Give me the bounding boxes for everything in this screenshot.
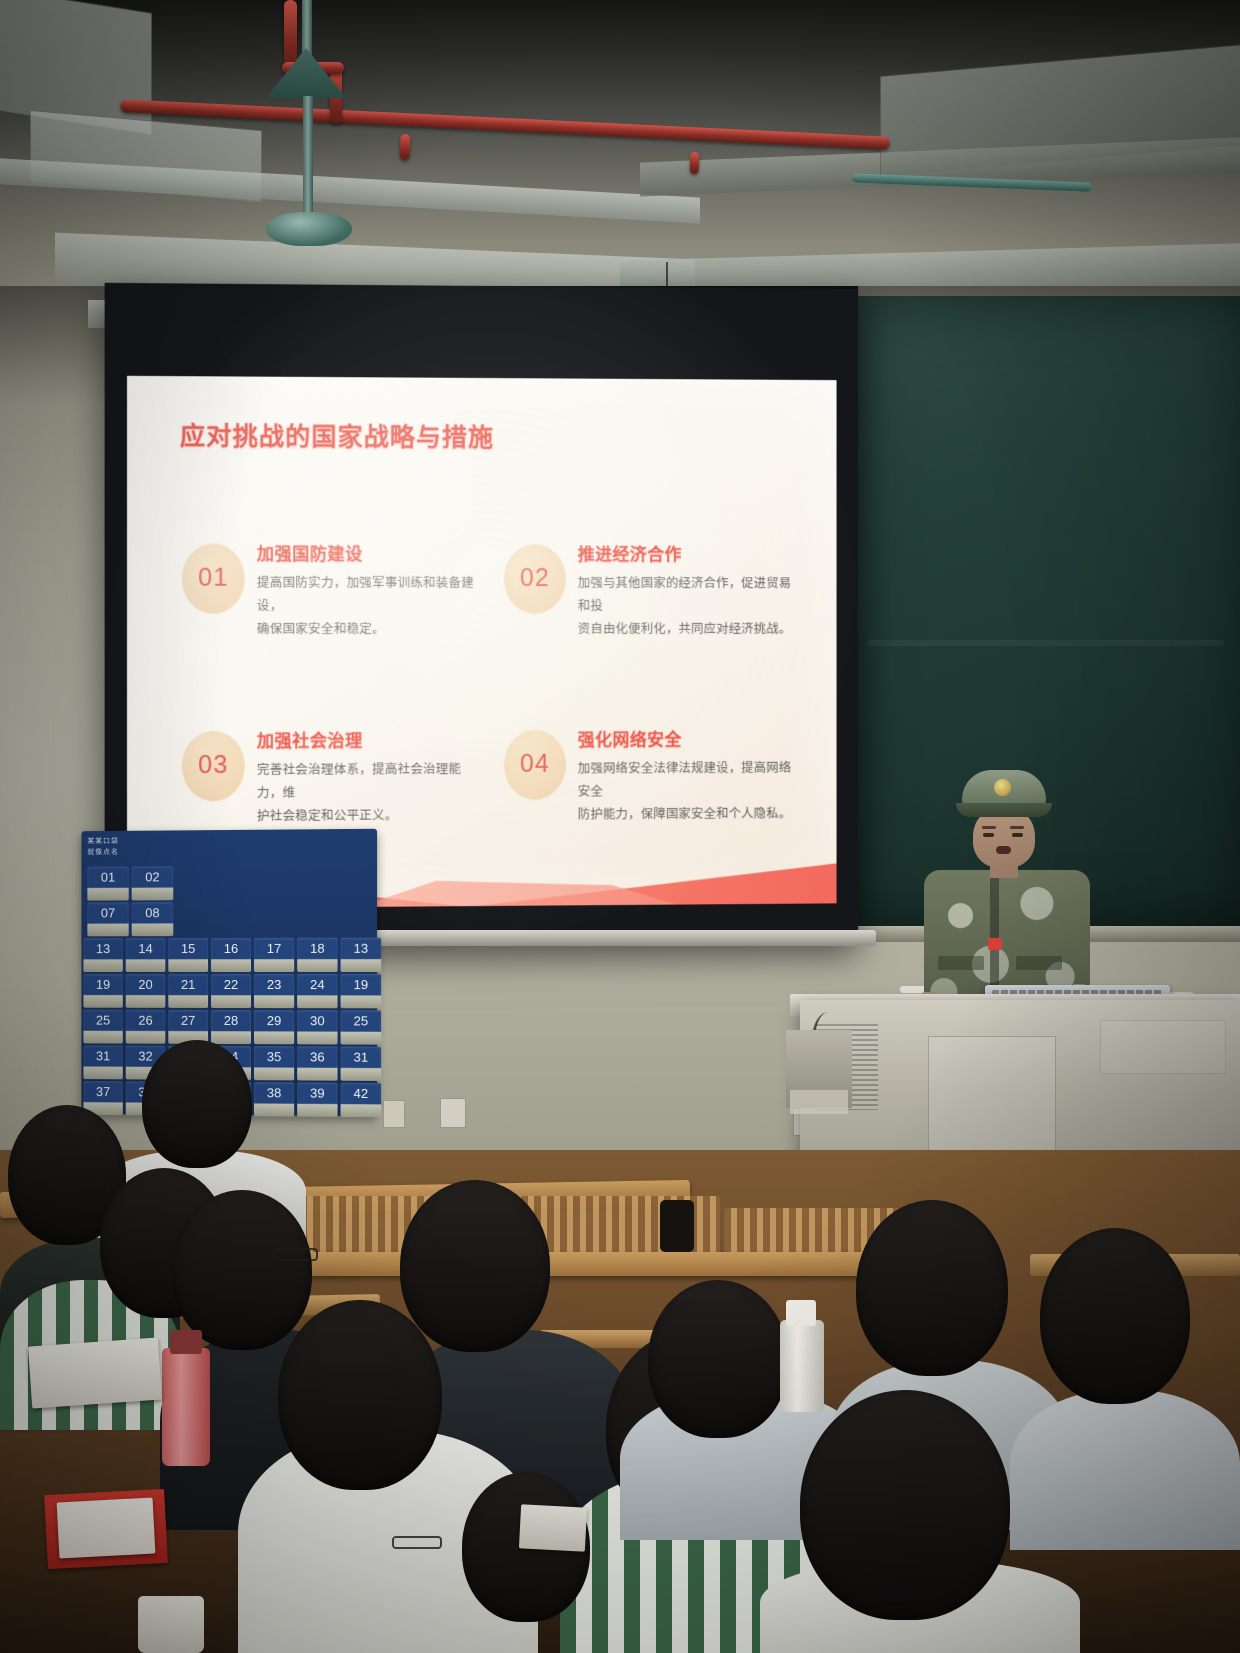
item-heading: 强化网络安全 [578, 725, 682, 750]
pocket-chart-header-line: 就像点名 [87, 846, 196, 858]
pocket-row: 25 26 27 28 29 30 25 [83, 1010, 381, 1045]
notebook[interactable] [519, 1504, 587, 1551]
pocket-slot[interactable]: 24 [297, 974, 337, 1008]
slide-items-row: 01 加强国防建设 提高国防实力，加强军事训练和装备建设， 确保国家安全和稳定。… [168, 525, 807, 713]
item-body-line: 防护能力，保障国家安全和个人隐私。 [578, 802, 800, 826]
pocket-slot[interactable]: 16 [211, 938, 251, 972]
pocket-slot[interactable]: 07 [87, 902, 128, 936]
pocket-slot[interactable]: 30 [297, 1010, 337, 1044]
pocket-slot[interactable]: 31 [341, 1046, 382, 1080]
cup[interactable] [138, 1596, 204, 1653]
pocket-slot[interactable]: 26 [126, 1010, 166, 1044]
pocket-slot[interactable]: 01 [87, 867, 128, 901]
podium-front-panel [928, 1036, 1056, 1164]
eyebrow [982, 826, 996, 829]
red-pipe-riser [284, 0, 297, 70]
pocket-slot[interactable]: 22 [211, 974, 251, 1008]
pocket-slot[interactable]: 42 [341, 1083, 382, 1118]
student-head [400, 1180, 550, 1352]
podium-shelf [790, 1090, 848, 1114]
student-head [800, 1390, 1010, 1620]
pocket-slot[interactable]: 27 [168, 1010, 208, 1044]
red-pipe-drop [690, 152, 700, 174]
item-number: 01 [182, 564, 245, 593]
eyebrow [1010, 826, 1024, 829]
pocket-chart-header: 某某口袋 就像点名 [87, 835, 196, 862]
item-body-line: 确保国家安全和稳定。 [257, 618, 483, 641]
pocket-row: 13 14 15 16 17 18 13 [83, 938, 381, 972]
wall-outlet [383, 1100, 405, 1128]
podium-panel [1100, 1020, 1226, 1074]
chalkboard-smudge [868, 640, 1224, 646]
ceiling-fan-motor [266, 212, 352, 246]
pocket-slot[interactable]: 13 [341, 938, 382, 972]
pocket-slot[interactable]: 38 [254, 1082, 294, 1116]
item-body: 加强网络安全法律法规建设，提高网络安全 防护能力，保障国家安全和个人隐私。 [578, 757, 800, 827]
item-heading: 加强社会治理 [257, 726, 363, 751]
pocket-slot[interactable]: 21 [168, 974, 208, 1008]
pocket-slot[interactable]: 13 [83, 938, 122, 972]
eyeglasses [392, 1536, 442, 1549]
cap-brim [956, 803, 1052, 817]
student-head [278, 1300, 442, 1490]
item-body: 加强与其他国家的经济合作，促进贸易和投 资自由化便利化，共同应对经济挑战。 [578, 572, 800, 641]
item-body-line: 提高国防实力，加强军事训练和装备建设， [257, 572, 483, 618]
item-body: 提高国防实力，加强军事训练和装备建设， 确保国家安全和稳定。 [257, 572, 483, 641]
pocket-slot[interactable]: 20 [126, 974, 166, 1008]
book-pages [57, 1498, 156, 1559]
pocket-slot[interactable]: 18 [297, 938, 337, 972]
pocket-slot[interactable]: 28 [211, 1010, 251, 1044]
student-head [856, 1200, 1008, 1376]
water-bottle[interactable] [162, 1348, 210, 1466]
wall-outlet [440, 1098, 466, 1128]
bottle-cap[interactable] [170, 1330, 202, 1354]
pocket-slot[interactable]: 17 [254, 938, 294, 972]
eye [983, 833, 994, 837]
item-number: 03 [182, 751, 245, 780]
student-head [142, 1040, 252, 1168]
thermos-bottle[interactable] [780, 1320, 824, 1412]
pocket-row: 01 02 [87, 866, 173, 900]
item-number: 02 [504, 564, 566, 593]
pocket-chart-header-line: 某某口袋 [87, 835, 196, 847]
item-body-line: 加强网络安全法律法规建设，提高网络安全 [578, 757, 800, 804]
item-body-line: 资自由化便利化，共同应对经济挑战。 [578, 618, 800, 641]
pocket-slot[interactable]: 02 [132, 866, 174, 900]
item-heading: 加强国防建设 [257, 540, 363, 565]
eyeglasses [272, 1248, 318, 1261]
bench-bracket [660, 1200, 694, 1252]
classroom-scene: 应对挑战的国家战略与措施 01 加强国防建设 提高国防实力，加强军事训练和装备建… [0, 0, 1240, 1653]
open-book[interactable] [28, 1338, 162, 1409]
eye [1012, 833, 1023, 837]
item-body-line: 加强与其他国家的经济合作，促进贸易和投 [578, 572, 800, 618]
pocket-slot[interactable]: 29 [254, 1010, 294, 1044]
pocket-row: 19 20 21 22 23 24 19 [83, 974, 381, 1008]
uniform-badge [988, 938, 1002, 950]
item-heading: 推进经济合作 [578, 540, 682, 565]
student-shoulders [1010, 1390, 1240, 1550]
pocket-slot[interactable]: 36 [297, 1046, 337, 1080]
uniform-pocket [938, 956, 984, 970]
pocket-slot[interactable]: 23 [254, 974, 294, 1008]
slide-item-01: 01 加强国防建设 提高国防实力，加强军事训练和装备建设， 确保国家安全和稳定。 [168, 525, 490, 713]
mouth [996, 846, 1011, 854]
pocket-slot[interactable]: 19 [83, 974, 122, 1008]
pocket-slot[interactable]: 35 [254, 1046, 294, 1080]
slide-title: 应对挑战的国家战略与措施 [180, 416, 494, 454]
pocket-slot[interactable]: 25 [341, 1010, 382, 1044]
pocket-slot[interactable]: 39 [297, 1082, 337, 1116]
slide-item-04: 04 强化网络安全 加强网络安全法律法规建设，提高网络安全 防护能力，保障国家安… [490, 711, 807, 898]
student-head [648, 1280, 788, 1438]
ceiling-fan-shaft [303, 96, 313, 214]
item-body-line: 护社会稳定和公平正义。 [257, 804, 483, 828]
pocket-slot[interactable]: 14 [126, 938, 166, 972]
pocket-slot[interactable]: 31 [83, 1045, 122, 1079]
uniform-pocket [1016, 956, 1062, 970]
pocket-slot[interactable]: 19 [341, 974, 382, 1008]
item-body-line: 完善社会治理体系，提高社会治理能力，维 [257, 758, 483, 805]
pocket-row: 07 08 [87, 902, 173, 936]
pocket-slot[interactable]: 15 [168, 938, 208, 972]
bottle-cap[interactable] [786, 1300, 816, 1326]
red-pipe-drop [400, 134, 411, 160]
slide-item-02: 02 推进经济合作 加强与其他国家的经济合作，促进贸易和投 资自由化便利化，共同… [490, 526, 807, 712]
student-head [172, 1190, 312, 1350]
presentation-slide: 应对挑战的国家战略与措施 01 加强国防建设 提高国防实力，加强军事训练和装备建… [127, 376, 837, 909]
student-head [1040, 1228, 1190, 1404]
pocket-slot[interactable]: 25 [83, 1010, 122, 1044]
cap-badge-icon [994, 779, 1011, 796]
item-body: 完善社会治理体系，提高社会治理能力，维 护社会稳定和公平正义。 [257, 758, 483, 828]
pocket-slot[interactable]: 08 [132, 902, 174, 936]
item-number: 04 [504, 750, 566, 779]
